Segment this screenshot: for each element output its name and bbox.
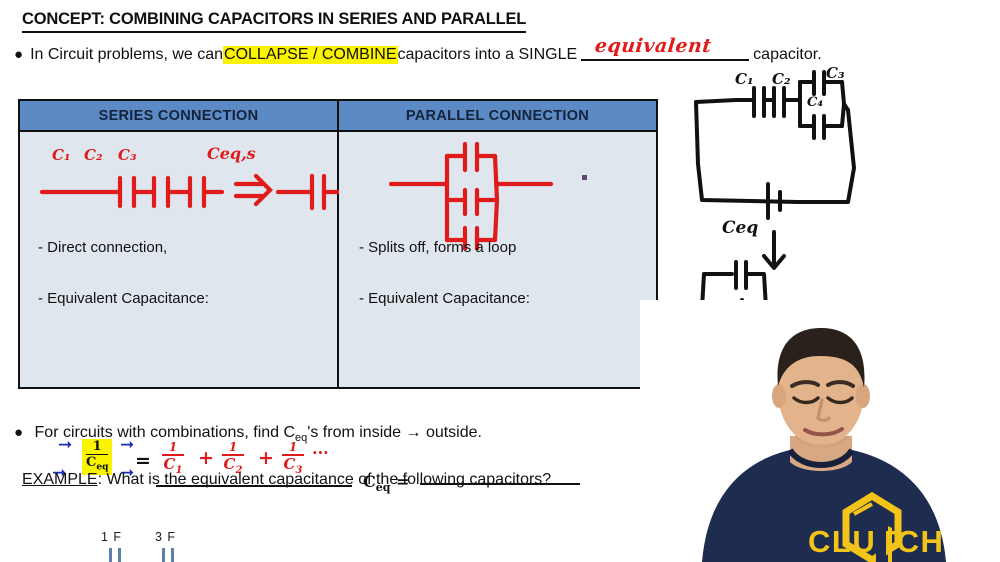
handwritten-answer-equivalent: equivalent: [594, 35, 713, 57]
parallel-note-equivalent: - Equivalent Capacitance:: [359, 290, 530, 307]
whiteboard-label-ceq: Ceq: [722, 218, 758, 238]
example-cap-2-label: 3 F: [155, 530, 176, 544]
table-header-series: SERIES CONNECTION: [20, 101, 339, 130]
instructor-video-overlay: CLUTCH: [640, 300, 1000, 562]
series-label-c2: C₂: [84, 146, 103, 164]
bullet2-sub: eq: [295, 432, 307, 444]
formula-equals-sign: =: [135, 450, 151, 472]
bullet1-middle: capacitors into a SINGLE: [398, 46, 578, 64]
whiteboard-label-c4: C₄: [807, 95, 823, 110]
formula-denominator-ceq: Ceq: [86, 455, 108, 473]
parallel-cell: - Splits off, forms a loop - Equivalent …: [339, 132, 656, 387]
formula-ellipsis: ···: [312, 443, 329, 462]
example-cap-2-plate-left: [162, 548, 165, 562]
series-equivalent-cap-tail: [278, 146, 348, 214]
formula-plus-1: +: [198, 447, 214, 469]
cursor-artifact: [582, 175, 587, 180]
example-cap-1-label: 1 F: [101, 530, 122, 544]
instructor-figure: CLUTCH: [640, 300, 1000, 562]
whiteboard-label-c2: C₂: [772, 70, 791, 88]
series-note-equivalent: - Equivalent Capacitance:: [38, 290, 209, 307]
bullet1-prefix: In Circuit problems, we can: [30, 46, 223, 64]
series-label-c1: C₁: [52, 146, 71, 164]
series-label-c3: C₃: [118, 146, 137, 164]
parallel-circuit-drawing: [389, 140, 589, 250]
whiteboard-label-c1: C₁: [735, 70, 754, 88]
formula-plus-2: +: [258, 447, 274, 469]
page-title: CONCEPT: COMBINING CAPACITORS IN SERIES …: [22, 10, 526, 33]
bullet-dot-icon: ●: [14, 46, 23, 63]
bullet2-after: 's from inside → outside.: [307, 424, 482, 441]
series-note-direct: - Direct connection,: [38, 239, 167, 256]
table-header-parallel: PARALLEL CONNECTION: [339, 101, 656, 130]
highlighted-one-over-ceq: 1 Ceq: [82, 439, 112, 475]
bullet-dot-icon-2: ●: [14, 424, 23, 441]
bullet-find-ceq: ● For circuits with combinations, find C…: [14, 424, 482, 444]
whiteboard-label-c3: C₃: [826, 64, 845, 82]
table-header-row: SERIES CONNECTION PARALLEL CONNECTION: [20, 101, 656, 132]
series-label-ceq-s: Ceq,s: [207, 144, 256, 163]
example-cap-1-plate-right: [118, 548, 121, 562]
parallel-note-splits: - Splits off, forms a loop: [359, 239, 516, 256]
example-question: : What is the equivalent capacitance of …: [98, 471, 552, 488]
example-label: EXAMPLE: [22, 471, 98, 488]
whiteboard-circuit-sketch: [678, 60, 988, 300]
comparison-table: SERIES CONNECTION PARALLEL CONNECTION: [18, 99, 658, 389]
table-body: C₁ C₂ C₃ Ceq,s - Direct connection, - Eq…: [20, 132, 656, 387]
example-cap-1-plate-left: [109, 548, 112, 562]
highlight-collapse-combine: COLLAPSE / COMBINE: [223, 46, 398, 64]
example-line: EXAMPLE: What is the equivalent capacita…: [22, 471, 551, 489]
series-cell: C₁ C₂ C₃ Ceq,s - Direct connection, - Eq…: [20, 132, 339, 387]
bullet2-before: For circuits with combinations, find C: [35, 424, 296, 441]
example-cap-2-plate-right: [171, 548, 174, 562]
